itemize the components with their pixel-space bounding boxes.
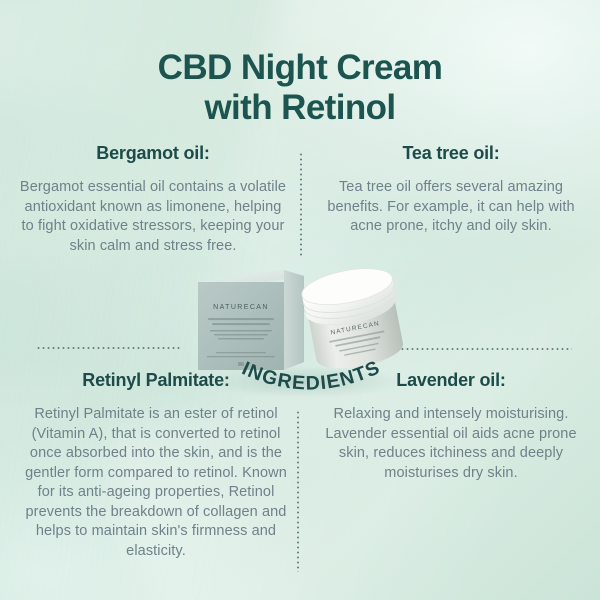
- ingredients-badge: INGREDIENTS: [196, 336, 426, 412]
- page-title: CBD Night Cream with Retinol: [0, 48, 600, 128]
- section-tea-tree-oil-body: Tea tree oil offers several amazing bene…: [318, 178, 584, 237]
- section-bergamot-oil: Bergamot oil: Bergamot essential oil con…: [18, 143, 288, 256]
- page-title-line-2: with Retinol: [0, 88, 600, 128]
- section-tea-tree-oil: Tea tree oil: Tea tree oil offers severa…: [318, 143, 584, 237]
- section-tea-tree-oil-heading: Tea tree oil:: [318, 143, 584, 164]
- section-retinyl-palmitate-body: Retinyl Palmitate is an ester of retinol…: [18, 405, 294, 562]
- ingredients-badge-label: INGREDIENTS: [238, 356, 383, 394]
- section-bergamot-oil-body: Bergamot essential oil contains a volati…: [18, 178, 288, 256]
- divider-vertical-top: [300, 152, 302, 256]
- divider-horizontal-left: [36, 347, 182, 349]
- section-bergamot-oil-heading: Bergamot oil:: [18, 143, 288, 164]
- section-lavender-oil-body: Relaxing and intensely moisturising. Lav…: [318, 405, 584, 483]
- ingredients-poster: CBD Night Cream with Retinol Bergamot oi…: [0, 0, 600, 600]
- divider-vertical-bottom: [297, 410, 299, 572]
- page-title-line-1: CBD Night Cream: [158, 48, 443, 87]
- product-box-brand: NATURECAN: [213, 304, 269, 311]
